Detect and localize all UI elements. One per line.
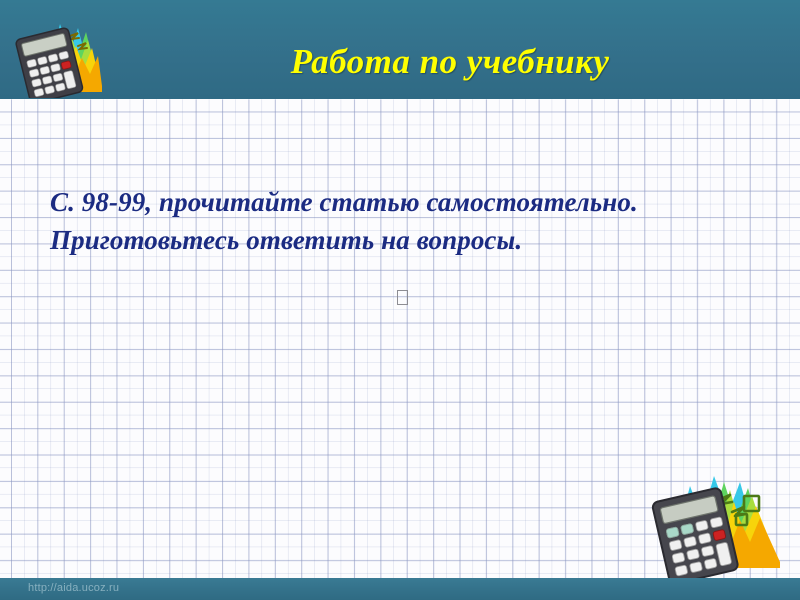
footer-band <box>0 578 800 600</box>
body-line-1: С. 98-99, прочитайте статью самостоятель… <box>50 183 750 221</box>
page-title: Работа по учебнику <box>150 42 750 82</box>
missing-glyph-box <box>397 290 408 305</box>
body-text-block: С. 98-99, прочитайте статью самостоятель… <box>50 183 750 259</box>
slide-canvas: Работа по учебнику С. 98-99, прочитайте … <box>0 0 800 600</box>
calculator-chart-icon-bottom-right <box>640 462 790 578</box>
calculator-chart-icon-top-left <box>8 6 104 98</box>
watermark-url: http://aida.ucoz.ru <box>28 582 119 594</box>
body-line-2: Приготовьтесь ответить на вопросы. <box>50 221 750 259</box>
